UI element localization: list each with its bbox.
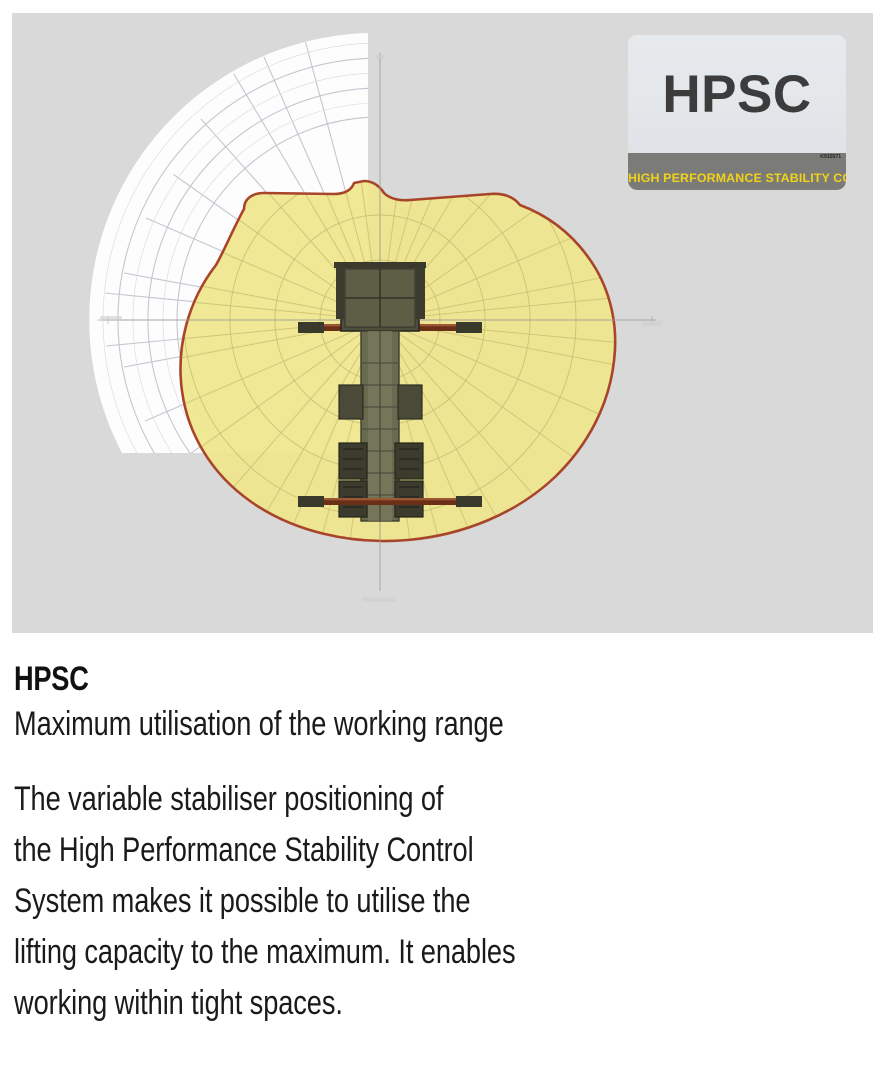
hpsc-logo-tagline: HIGH PERFORMANCE STABILITY CONTROL: [628, 171, 846, 185]
page-title: HPSC: [14, 658, 686, 700]
hpsc-logo-wordmark: HPSC: [662, 68, 811, 121]
body-line: The variable stabiliser positioning of: [14, 774, 854, 825]
hpsc-logo-part-code: K915971: [820, 154, 841, 160]
body-paragraph: The variable stabiliser positioning of t…: [14, 774, 854, 1029]
body-line: System makes it possible to utilise the: [14, 876, 854, 927]
body-line: working within tight spaces.: [14, 978, 854, 1029]
caption-block: HPSC Maximum utilisation of the working …: [14, 658, 854, 1029]
page-subtitle: Maximum utilisation of the working range: [14, 702, 686, 746]
diagram-panel: HPSC K915971 HIGH PERFORMANCE STABILITY …: [12, 13, 873, 633]
crane-superstructure: [334, 262, 426, 331]
hpsc-logo-band: K915971 HIGH PERFORMANCE STABILITY CONTR…: [628, 153, 846, 190]
body-line: lifting capacity to the maximum. It enab…: [14, 927, 854, 978]
body-line: the High Performance Stability Control: [14, 825, 854, 876]
hpsc-logo-plate: HPSC: [628, 35, 846, 153]
page-root: HPSC K915971 HIGH PERFORMANCE STABILITY …: [0, 0, 873, 1080]
hpsc-logo-badge: HPSC K915971 HIGH PERFORMANCE STABILITY …: [628, 35, 846, 190]
